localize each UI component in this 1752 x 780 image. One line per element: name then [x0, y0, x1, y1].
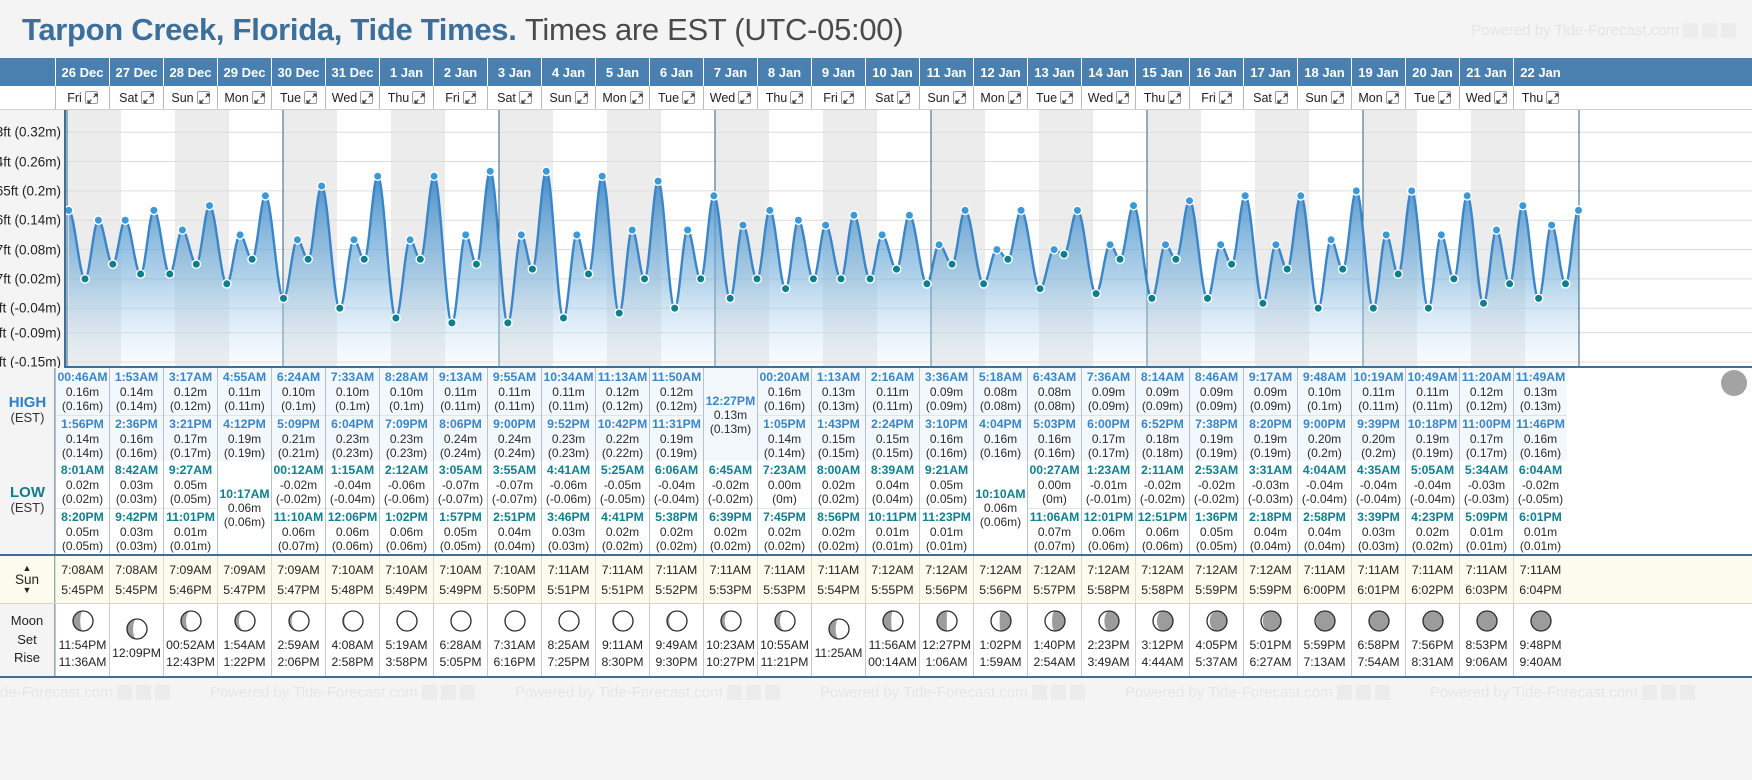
date-header-cell[interactable]: 13 Jan [1027, 58, 1081, 86]
date-header-cell[interactable]: 6 Jan [649, 58, 703, 86]
tide-height-secondary: (0.2m) [1307, 446, 1342, 460]
low-tide-cell: 8:42AM0.03m(0.03m)9:42PM0.03m(0.03m) [110, 461, 163, 554]
tide-height-primary: 0.24m [444, 432, 477, 446]
day-of-week-label: Sat [1253, 91, 1272, 105]
day-of-week-label: Mon [980, 91, 1004, 105]
refresh-logo-icon [1051, 685, 1066, 700]
powered-by-footer: Powered by Tide-Forecast.com [1125, 684, 1390, 701]
expand-arrows-icon[interactable] [841, 91, 854, 104]
tide-height-primary: -0.04m [334, 478, 371, 492]
tide-time: 8:46AM [1195, 370, 1238, 384]
tide-height-secondary: (0.09m) [1088, 399, 1129, 413]
expand-arrows-icon[interactable] [575, 91, 588, 104]
high-tide-point [94, 216, 102, 224]
day-of-week-cell: Sat [109, 86, 163, 109]
tide-height-primary: 0.01m [174, 525, 207, 539]
tide-time: 5:34AM [1465, 463, 1508, 477]
moon-cell: 4:08AM2:58PM [325, 604, 379, 676]
low-tide-point [448, 319, 456, 327]
date-header-cell[interactable]: 30 Dec [271, 58, 325, 86]
high-tide-cell: 1:13AM0.13m(0.13m)1:43PM0.15m(0.15m) [812, 368, 865, 461]
high-tide-event: 11:31PM0.19m(0.19m) [650, 415, 703, 462]
expand-arrows-icon[interactable] [304, 91, 317, 104]
moonset-time: 5:59PM [1303, 637, 1345, 653]
tide-time: 11:31PM [652, 417, 701, 431]
moon-times: 1:40PM2:54AM [1033, 637, 1075, 670]
high-tide-point [1050, 245, 1058, 253]
tide-time: 1:43PM [817, 417, 860, 431]
sunrise-time: 7:12AM [979, 563, 1021, 577]
moon-phase-icon [180, 610, 202, 635]
sunrise-time: 7:08AM [115, 563, 157, 577]
tide-height-secondary: (0.09m) [1250, 399, 1291, 413]
sun-cell: 7:08AM5:45PM [55, 556, 109, 603]
tide-height-primary: 0.09m [1200, 385, 1233, 399]
expand-arrows-icon[interactable] [1116, 91, 1129, 104]
low-tide-event: 2:58PM0.04m(0.04m) [1298, 508, 1351, 555]
expand-arrows-icon[interactable] [1275, 91, 1288, 104]
tide-height-primary: 0.16m [66, 385, 99, 399]
low-tide-point [1148, 294, 1156, 302]
high-tide-point [1073, 206, 1081, 214]
low-tide-cell: 8:39AM0.04m(0.04m)10:11PM0.01m(0.01m) [866, 461, 919, 554]
date-header-cell[interactable]: 4 Jan [541, 58, 595, 86]
date-header-cell[interactable]: 16 Jan [1189, 58, 1243, 86]
moon-times: 12:27PM1:06AM [922, 637, 971, 670]
tide-time: 11:10AM [274, 510, 323, 524]
tide-height-secondary: (0.06m) [980, 515, 1021, 529]
tide-time: 11:49AM [1516, 370, 1565, 384]
tide-height-primary: 0.23m [390, 432, 423, 446]
tide-height-primary: 0.17m [174, 432, 207, 446]
marker-logo-icon [1070, 685, 1085, 700]
sunrise-time: 7:12AM [925, 563, 967, 577]
low-tide-point [1424, 304, 1432, 312]
date-header-cell[interactable]: 12 Jan [973, 58, 1027, 86]
moon-times: 00:52AM12:43PM [166, 637, 215, 670]
day-of-week-cell: Thu [1513, 86, 1567, 109]
high-tide-event: 6:52PM0.18m(0.18m) [1136, 415, 1189, 462]
date-header-cell[interactable]: 31 Dec [325, 58, 379, 86]
moon-label: Moon Set Rise [0, 604, 55, 676]
moon-times: 6:28AM5:05PM [439, 637, 481, 670]
tide-height-secondary: (0.11m) [872, 399, 912, 413]
low-tide-point [1394, 270, 1402, 278]
tide-height-primary: 0.04m [1254, 525, 1287, 539]
high-tide-point [654, 177, 662, 185]
tide-height-secondary: (0.03m) [116, 492, 157, 506]
tide-time: 12:01PM [1084, 510, 1133, 524]
tide-column: 8:28AM0.10m(0.1m)7:09PM0.23m(0.23m)2:12A… [379, 368, 433, 554]
low-tide-event: 4:35AM-0.04m(-0.04m) [1352, 461, 1405, 508]
tide-height-secondary: (0.05m) [1196, 539, 1237, 553]
tide-height-primary: -0.07m [442, 478, 479, 492]
tide-height-secondary: (0.02m) [602, 539, 643, 553]
tide-time: 6:43AM [1033, 370, 1076, 384]
expand-arrows-icon[interactable] [463, 91, 476, 104]
high-tide-cell: 2:16AM0.11m(0.11m)2:24PM0.15m(0.15m) [866, 368, 919, 461]
moon-times: 10:55AM11:21PM [760, 637, 809, 670]
expand-arrows-icon[interactable] [953, 91, 966, 104]
tide-height-primary: 0.06m [336, 525, 369, 539]
tide-height-primary: -0.02m [1522, 478, 1559, 492]
sunrise-time: 7:12AM [1087, 563, 1129, 577]
high-tide-event: 10:49AM0.11m(0.11m) [1406, 368, 1459, 415]
tide-height-secondary: (0.11m) [494, 399, 534, 413]
moon-rise-label: Rise [14, 649, 40, 668]
date-header-cell[interactable]: 5 Jan [595, 58, 649, 86]
moonset-time: 4:08AM [331, 637, 373, 653]
moonrise-time: 6:27AM [1249, 654, 1291, 670]
high-tide-point [150, 206, 158, 214]
moonset-time: 7:56PM [1411, 637, 1453, 653]
sun-cell: 7:12AM5:57PM [1027, 556, 1081, 603]
chart-logo-icon [117, 685, 132, 700]
high-tide-point [486, 167, 494, 175]
sunrise-time: 7:11AM [1304, 563, 1345, 577]
tide-height-secondary: (0.13m) [1520, 399, 1561, 413]
tide-time: 12:06PM [328, 510, 377, 524]
tide-height-secondary: (0.02m) [818, 539, 859, 553]
expand-arrows-icon[interactable] [141, 91, 154, 104]
high-tide-cell: 00:46AM0.16m(0.16m)1:56PM0.14m(0.14m) [56, 368, 109, 461]
tide-column: 8:14AM0.09m(0.09m)6:52PM0.18m(0.18m)2:11… [1135, 368, 1189, 554]
high-tide-label-tz: (EST) [0, 411, 55, 426]
low-tide-event: 9:27AM0.05m(0.05m) [164, 461, 217, 508]
tide-height-secondary: (0.12m) [602, 399, 643, 413]
tide-height-secondary: (0.14m) [62, 446, 103, 460]
tide-height-primary: 0.02m [1416, 525, 1449, 539]
high-tide-event: 9:13AM0.11m(0.11m) [434, 368, 487, 415]
low-tide-label-text: LOW [0, 484, 55, 501]
date-header-cell[interactable]: 11 Jan [919, 58, 973, 86]
tide-height-primary: 0.06m [228, 501, 261, 515]
sun-cell: 7:10AM5:49PM [433, 556, 487, 603]
tide-height-primary: 0.16m [1038, 432, 1071, 446]
tide-height-primary: 0.02m [714, 525, 747, 539]
expand-arrows-icon[interactable] [1219, 91, 1232, 104]
date-header-cell[interactable]: 27 Dec [109, 58, 163, 86]
low-tide-point [109, 260, 117, 268]
tide-time: 2:51PM [493, 510, 536, 524]
date-header-cell[interactable]: 19 Jan [1351, 58, 1405, 86]
tide-height-primary: -0.06m [388, 478, 425, 492]
high-tide-point [1161, 241, 1169, 249]
tide-column: 6:43AM0.08m(0.08m)5:03PM0.16m(0.16m)00:2… [1027, 368, 1081, 554]
high-tide-event: 11:49AM0.13m(0.13m) [1514, 368, 1567, 415]
date-header-cell[interactable]: 20 Jan [1405, 58, 1459, 86]
expand-arrows-icon[interactable] [682, 91, 695, 104]
high-tide-cell: 6:43AM0.08m(0.08m)5:03PM0.16m(0.16m) [1028, 368, 1081, 461]
moonrise-time: 3:49AM [1087, 654, 1129, 670]
expand-arrows-icon[interactable] [897, 91, 910, 104]
day-of-week-label: Thu [766, 91, 788, 105]
low-tide-point [1172, 255, 1180, 263]
day-of-week-label: Tue [658, 91, 679, 105]
moon-phase-icon [828, 618, 850, 643]
high-tide-point [935, 241, 943, 249]
tide-time: 9:48AM [1303, 370, 1346, 384]
expand-arrows-icon[interactable] [790, 91, 803, 104]
tide-time: 00:46AM [57, 370, 107, 384]
moon-times: 9:49AM9:30PM [655, 637, 697, 670]
expand-arrows-icon[interactable] [85, 91, 98, 104]
expand-arrows-icon[interactable] [519, 91, 532, 104]
sunset-time: 5:53PM [709, 583, 751, 597]
low-tide-label: LOW (EST) [0, 484, 55, 516]
date-header-cell[interactable]: 15 Jan [1135, 58, 1189, 86]
tide-time: 6:04PM [331, 417, 374, 431]
sun-cell: 7:10AM5:48PM [325, 556, 379, 603]
moon-phase-icon [1260, 610, 1282, 635]
low-tide-point [892, 265, 900, 273]
tide-height-secondary: (0.11m) [1412, 399, 1452, 413]
tide-time: 4:04AM [1303, 463, 1346, 477]
tide-time: 4:23PM [1411, 510, 1454, 524]
date-header-cell[interactable]: 18 Jan [1297, 58, 1351, 86]
tide-time: 1:05PM [763, 417, 806, 431]
refresh-logo-icon [136, 685, 151, 700]
low-tide-cell: 1:15AM-0.04m(-0.04m)12:06PM0.06m(0.06m) [326, 461, 379, 554]
date-header-cell[interactable]: 14 Jan [1081, 58, 1135, 86]
powered-by-footer: Powered by Tide-Forecast.com [0, 684, 170, 701]
low-tide-cell: 6:06AM-0.04m(-0.04m)5:38PM0.02m(0.02m) [650, 461, 703, 554]
low-tide-point [279, 294, 287, 302]
day-of-week-label: Sun [1305, 91, 1327, 105]
high-tide-point [1017, 206, 1025, 214]
moonset-time: 2:59AM [277, 637, 319, 653]
high-tide-event: 7:33AM0.10m(0.1m) [326, 368, 379, 415]
tide-height-secondary: (-0.02m) [1194, 492, 1239, 506]
moon-cell: 1:02PM1:59AM [973, 604, 1027, 676]
moon-phase-icon [1530, 610, 1552, 635]
date-header-cell[interactable]: 10 Jan [865, 58, 919, 86]
moonset-time: 9:11AM [602, 637, 643, 653]
expand-arrows-icon[interactable] [1438, 91, 1451, 104]
sun-cell: 7:12AM5:56PM [973, 556, 1027, 603]
moonset-time: 10:23AM [706, 637, 755, 653]
tide-time: 6:39PM [709, 510, 752, 524]
powered-by-top-text: Powered by Tide-Forecast.com [1471, 22, 1679, 39]
tide-height-secondary: (0.09m) [1142, 399, 1183, 413]
tide-column: 6:24AM0.10m(0.1m)5:09PM0.21m(0.21m)00:12… [271, 368, 325, 554]
tide-height-primary: 0.23m [336, 432, 369, 446]
tide-column: 11:13AM0.12m(0.12m)10:42PM0.22m(0.22m)5:… [595, 368, 649, 554]
low-tide-event: 11:06AM0.07m(0.07m) [1028, 508, 1081, 555]
tide-height-primary: 0.19m [660, 432, 693, 446]
moon-phase-icon [1314, 610, 1336, 635]
date-header-cell[interactable]: 29 Dec [217, 58, 271, 86]
tide-height-primary: -0.04m [1360, 478, 1397, 492]
day-of-week-cell: Sat [487, 86, 541, 109]
date-header-cell[interactable]: 8 Jan [757, 58, 811, 86]
date-header-cell[interactable]: 3 Jan [487, 58, 541, 86]
high-tide-event: 8:46AM0.09m(0.09m) [1190, 368, 1243, 415]
tide-column: 1:53AM0.14m(0.14m)2:36PM0.16m(0.16m)8:42… [109, 368, 163, 554]
tide-height-secondary: (0.07m) [278, 539, 319, 553]
moonset-time: 6:58PM [1357, 637, 1399, 653]
tide-height-secondary: (0.19m) [224, 446, 265, 460]
chart-y-tick-label: 0.27ft (0.08m) [0, 242, 61, 257]
expand-arrows-icon[interactable] [1494, 91, 1507, 104]
day-of-week-label: Fri [1201, 91, 1216, 105]
expand-arrows-icon[interactable] [252, 91, 265, 104]
tide-column: 9:55AM0.11m(0.11m)9:00PM0.24m(0.24m)3:55… [487, 368, 541, 554]
tide-height-primary: -0.05m [604, 478, 641, 492]
low-tide-point [472, 260, 480, 268]
high-tide-event: 6:43AM0.08m(0.08m) [1028, 368, 1081, 415]
expand-arrows-icon[interactable] [360, 91, 373, 104]
date-header-cell[interactable]: 22 Jan [1513, 58, 1567, 86]
scroll-thumb[interactable] [1721, 370, 1747, 396]
low-tide-point [504, 319, 512, 327]
moon-cell: 1:40PM2:54AM [1027, 604, 1081, 676]
tide-time: 1:56PM [61, 417, 104, 431]
powered-by-footer: Powered by Tide-Forecast.com [515, 684, 780, 701]
moon-times: 12:09PM [112, 645, 161, 661]
low-tide-event: 5:05AM-0.04m(-0.04m) [1406, 461, 1459, 508]
marker-logo-icon [765, 685, 780, 700]
tide-time: 2:58PM [1303, 510, 1346, 524]
tide-height-primary: 0.09m [1146, 385, 1179, 399]
date-header-cell[interactable]: 7 Jan [703, 58, 757, 86]
tide-height-primary: 0.10m [282, 385, 315, 399]
tide-height-primary: 0.10m [1308, 385, 1341, 399]
expand-arrows-icon[interactable] [738, 91, 751, 104]
date-header-cell[interactable]: 28 Dec [163, 58, 217, 86]
day-of-week-label: Mon [224, 91, 248, 105]
tide-height-secondary: (0m) [1042, 492, 1067, 506]
date-header-cell[interactable]: 1 Jan [379, 58, 433, 86]
day-of-week-label: Tue [1414, 91, 1435, 105]
tide-height-primary: 0.19m [228, 432, 261, 446]
high-tide-point [236, 231, 244, 239]
low-tide-cell: 3:31AM-0.03m(-0.03m)2:18PM0.04m(0.04m) [1244, 461, 1297, 554]
tide-height-secondary: (-0.02m) [276, 492, 321, 506]
day-of-week-cell: Mon [595, 86, 649, 109]
tide-height-secondary: (0.02m) [710, 539, 751, 553]
day-of-week-label: Sun [171, 91, 193, 105]
sunset-time: 5:49PM [385, 583, 427, 597]
tide-time: 11:20AM [1462, 370, 1511, 384]
expand-arrows-icon[interactable] [412, 91, 425, 104]
sunset-time: 6:03PM [1465, 583, 1507, 597]
tide-height-secondary: (-0.04m) [1410, 492, 1455, 506]
expand-arrows-icon[interactable] [630, 91, 643, 104]
sunset-time: 6:00PM [1303, 583, 1345, 597]
expand-arrows-icon[interactable] [1331, 91, 1344, 104]
moon-row: Moon Set Rise 11:54PM11:36AM12:09PM00:52… [0, 604, 1752, 678]
high-tide-event: 5:03PM0.16m(0.16m) [1028, 415, 1081, 462]
expand-arrows-icon[interactable] [1168, 91, 1181, 104]
low-tide-event: 8:20PM0.05m(0.05m) [56, 508, 109, 555]
low-tide-event: 10:17AM0.06m(0.06m) [218, 461, 271, 554]
high-tide-point [573, 231, 581, 239]
moon-cell: 10:55AM11:21PM [757, 604, 811, 676]
low-tide-point [1339, 265, 1347, 273]
expand-arrows-icon[interactable] [197, 91, 210, 104]
moon-phase-icon [504, 610, 526, 635]
date-header-cell[interactable]: 9 Jan [811, 58, 865, 86]
tide-time: 11:50AM [652, 370, 701, 384]
sunset-time: 5:51PM [547, 583, 589, 597]
tide-height-secondary: (-0.03m) [1464, 492, 1509, 506]
tide-time: 4:04PM [979, 417, 1022, 431]
low-tide-cell: 3:05AM-0.07m(-0.07m)1:57PM0.05m(0.05m) [434, 461, 487, 554]
sun-cell: 7:12AM5:59PM [1243, 556, 1297, 603]
date-header-cell[interactable]: 2 Jan [433, 58, 487, 86]
low-tide-event: 9:42PM0.03m(0.03m) [110, 508, 163, 555]
high-tide-event: 7:38PM0.19m(0.19m) [1190, 415, 1243, 462]
tide-time: 8:39AM [871, 463, 914, 477]
low-tide-cell: 00:27AM0.00m(0m)11:06AM0.07m(0.07m) [1028, 461, 1081, 554]
high-tide-event: 11:13AM0.12m(0.12m) [596, 368, 649, 415]
moonrise-time: 10:27PM [706, 654, 755, 670]
tide-time: 00:12AM [273, 463, 323, 477]
low-tide-event: 00:12AM-0.02m(-0.02m) [272, 461, 325, 508]
expand-arrows-icon[interactable] [1060, 91, 1073, 104]
sun-cell: 7:08AM5:45PM [109, 556, 163, 603]
expand-arrows-icon[interactable] [1546, 91, 1559, 104]
tide-time: 1:53AM [115, 370, 158, 384]
tide-curve-svg [66, 110, 1752, 368]
high-tide-cell: 8:28AM0.10m(0.1m)7:09PM0.23m(0.23m) [380, 368, 433, 461]
moon-times: 4:05PM5:37AM [1195, 637, 1237, 670]
high-tide-event: 7:09PM0.23m(0.23m) [380, 415, 433, 462]
sunset-time: 5:46PM [169, 583, 211, 597]
expand-arrows-icon[interactable] [1386, 91, 1399, 104]
powered-by-footer-text: Powered by Tide-Forecast.com [210, 684, 418, 701]
high-tide-event: 5:09PM0.21m(0.21m) [272, 415, 325, 462]
date-header-cell[interactable]: 26 Dec [55, 58, 109, 86]
title-bar: Tarpon Creek, Florida, Tide Times. Times… [0, 0, 1752, 58]
tide-height-secondary: (0.09m) [926, 399, 967, 413]
day-of-week-cell: Fri [55, 86, 109, 109]
tide-time: 1:02PM [385, 510, 428, 524]
low-tide-point [1092, 289, 1100, 297]
tide-time: 9:21AM [925, 463, 968, 477]
date-header-cell[interactable]: 21 Jan [1459, 58, 1513, 86]
high-tide-event: 11:00PM0.17m(0.17m) [1460, 415, 1513, 462]
tide-time: 2:16AM [871, 370, 914, 384]
tide-height-secondary: (0.12m) [1466, 399, 1507, 413]
tide-time: 7:36AM [1087, 370, 1130, 384]
high-tide-point [430, 172, 438, 180]
high-tide-event: 1:53AM0.14m(0.14m) [110, 368, 163, 415]
tide-time: 7:23AM [763, 463, 806, 477]
moon-cell: 4:05PM5:37AM [1189, 604, 1243, 676]
expand-arrows-icon[interactable] [1008, 91, 1021, 104]
low-tide-cell: 2:53AM-0.02m(-0.02m)1:36PM0.05m(0.05m) [1190, 461, 1243, 554]
sun-cell: 7:12AM5:59PM [1189, 556, 1243, 603]
high-tide-cell: 11:13AM0.12m(0.12m)10:42PM0.22m(0.22m) [596, 368, 649, 461]
date-header-cell[interactable]: 17 Jan [1243, 58, 1297, 86]
tide-column: 10:49AM0.11m(0.11m)10:18PM0.19m(0.19m)5:… [1405, 368, 1459, 554]
tide-time: 11:23PM [922, 510, 971, 524]
low-tide-cell: 5:34AM-0.03m(-0.03m)5:09PM0.01m(0.01m) [1460, 461, 1513, 554]
moonset-time: 3:12PM [1141, 637, 1183, 653]
sunrise-time: 7:09AM [277, 563, 319, 577]
high-tide-point [1463, 192, 1471, 200]
low-tide-point [1203, 294, 1211, 302]
marker-logo-icon [460, 685, 475, 700]
powered-by-footer-text: Powered by Tide-Forecast.com [820, 684, 1028, 701]
low-tide-point [1283, 265, 1291, 273]
high-tide-event: 6:24AM0.10m(0.1m) [272, 368, 325, 415]
high-tide-event: 1:13AM0.13m(0.13m) [812, 368, 865, 415]
sunset-time: 5:56PM [925, 583, 967, 597]
moon-times: 2:23PM3:49AM [1087, 637, 1129, 670]
